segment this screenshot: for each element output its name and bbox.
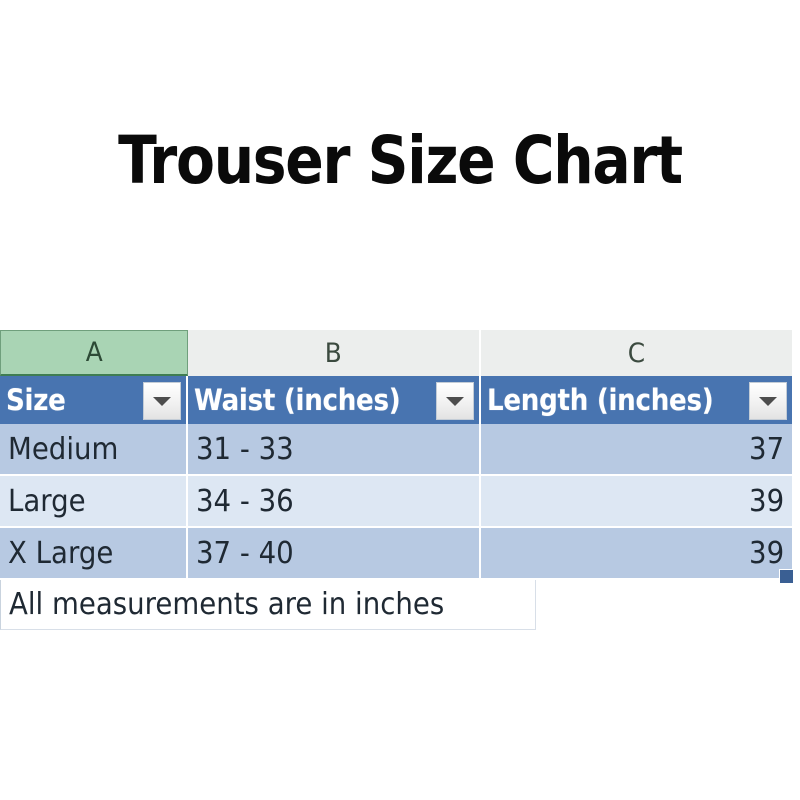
cell-size[interactable]: Medium (0, 424, 188, 476)
filter-button-size[interactable] (143, 382, 181, 420)
cell-size[interactable]: Large (0, 476, 188, 528)
table-header-length: Length (inches) (481, 376, 794, 424)
page-title: Trouser Size Chart (56, 128, 744, 194)
table-row: Large 34 - 36 39 (0, 476, 794, 528)
table-header-row: Size Waist (inches) Length (inches) (0, 376, 794, 424)
chevron-down-icon (153, 397, 171, 406)
chevron-down-icon (446, 397, 464, 406)
column-header-a[interactable]: A (0, 330, 188, 376)
table-header-waist-label: Waist (inches) (194, 383, 400, 417)
cell-length-value: 39 (749, 536, 784, 571)
spreadsheet-table: A B C Size Waist (inches) Le (0, 330, 794, 630)
cell-waist[interactable]: 37 - 40 (188, 528, 481, 580)
cell-waist-value: 34 - 36 (196, 484, 294, 519)
cell-waist-value: 37 - 40 (196, 536, 294, 571)
cell-length-value: 39 (749, 484, 784, 519)
measurement-note-label: All measurements are in inches (9, 587, 444, 622)
cell-size-value: X Large (8, 536, 113, 571)
cell-length-value: 37 (749, 432, 784, 467)
column-header-b-label: B (325, 338, 342, 369)
table-header-size: Size (0, 376, 188, 424)
selection-handle[interactable] (779, 569, 794, 584)
cell-waist-value: 31 - 33 (196, 432, 294, 467)
column-header-a-label: A (85, 337, 102, 368)
cell-size[interactable]: X Large (0, 528, 188, 580)
column-letter-row: A B C (0, 330, 794, 376)
column-header-c-label: C (628, 338, 645, 369)
table-row: X Large 37 - 40 39 (0, 528, 794, 580)
cell-waist[interactable]: 34 - 36 (188, 476, 481, 528)
chevron-down-icon (759, 397, 777, 406)
note-row: All measurements are in inches (0, 580, 794, 630)
column-header-c[interactable]: C (481, 330, 794, 376)
table-row: Medium 31 - 33 37 (0, 424, 794, 476)
cell-length[interactable]: 39 (481, 528, 794, 580)
cell-size-value: Large (8, 484, 86, 519)
filter-button-waist[interactable] (436, 382, 474, 420)
cell-length[interactable]: 39 (481, 476, 794, 528)
cell-waist[interactable]: 31 - 33 (188, 424, 481, 476)
table-header-size-label: Size (6, 383, 66, 417)
cell-size-value: Medium (8, 432, 118, 467)
column-header-b[interactable]: B (188, 330, 481, 376)
table-header-waist: Waist (inches) (188, 376, 481, 424)
table-body: Size Waist (inches) Length (inches) (0, 376, 794, 580)
table-header-length-label: Length (inches) (487, 383, 713, 417)
cell-length[interactable]: 37 (481, 424, 794, 476)
measurement-note-cell[interactable]: All measurements are in inches (0, 580, 536, 630)
filter-button-length[interactable] (749, 382, 787, 420)
